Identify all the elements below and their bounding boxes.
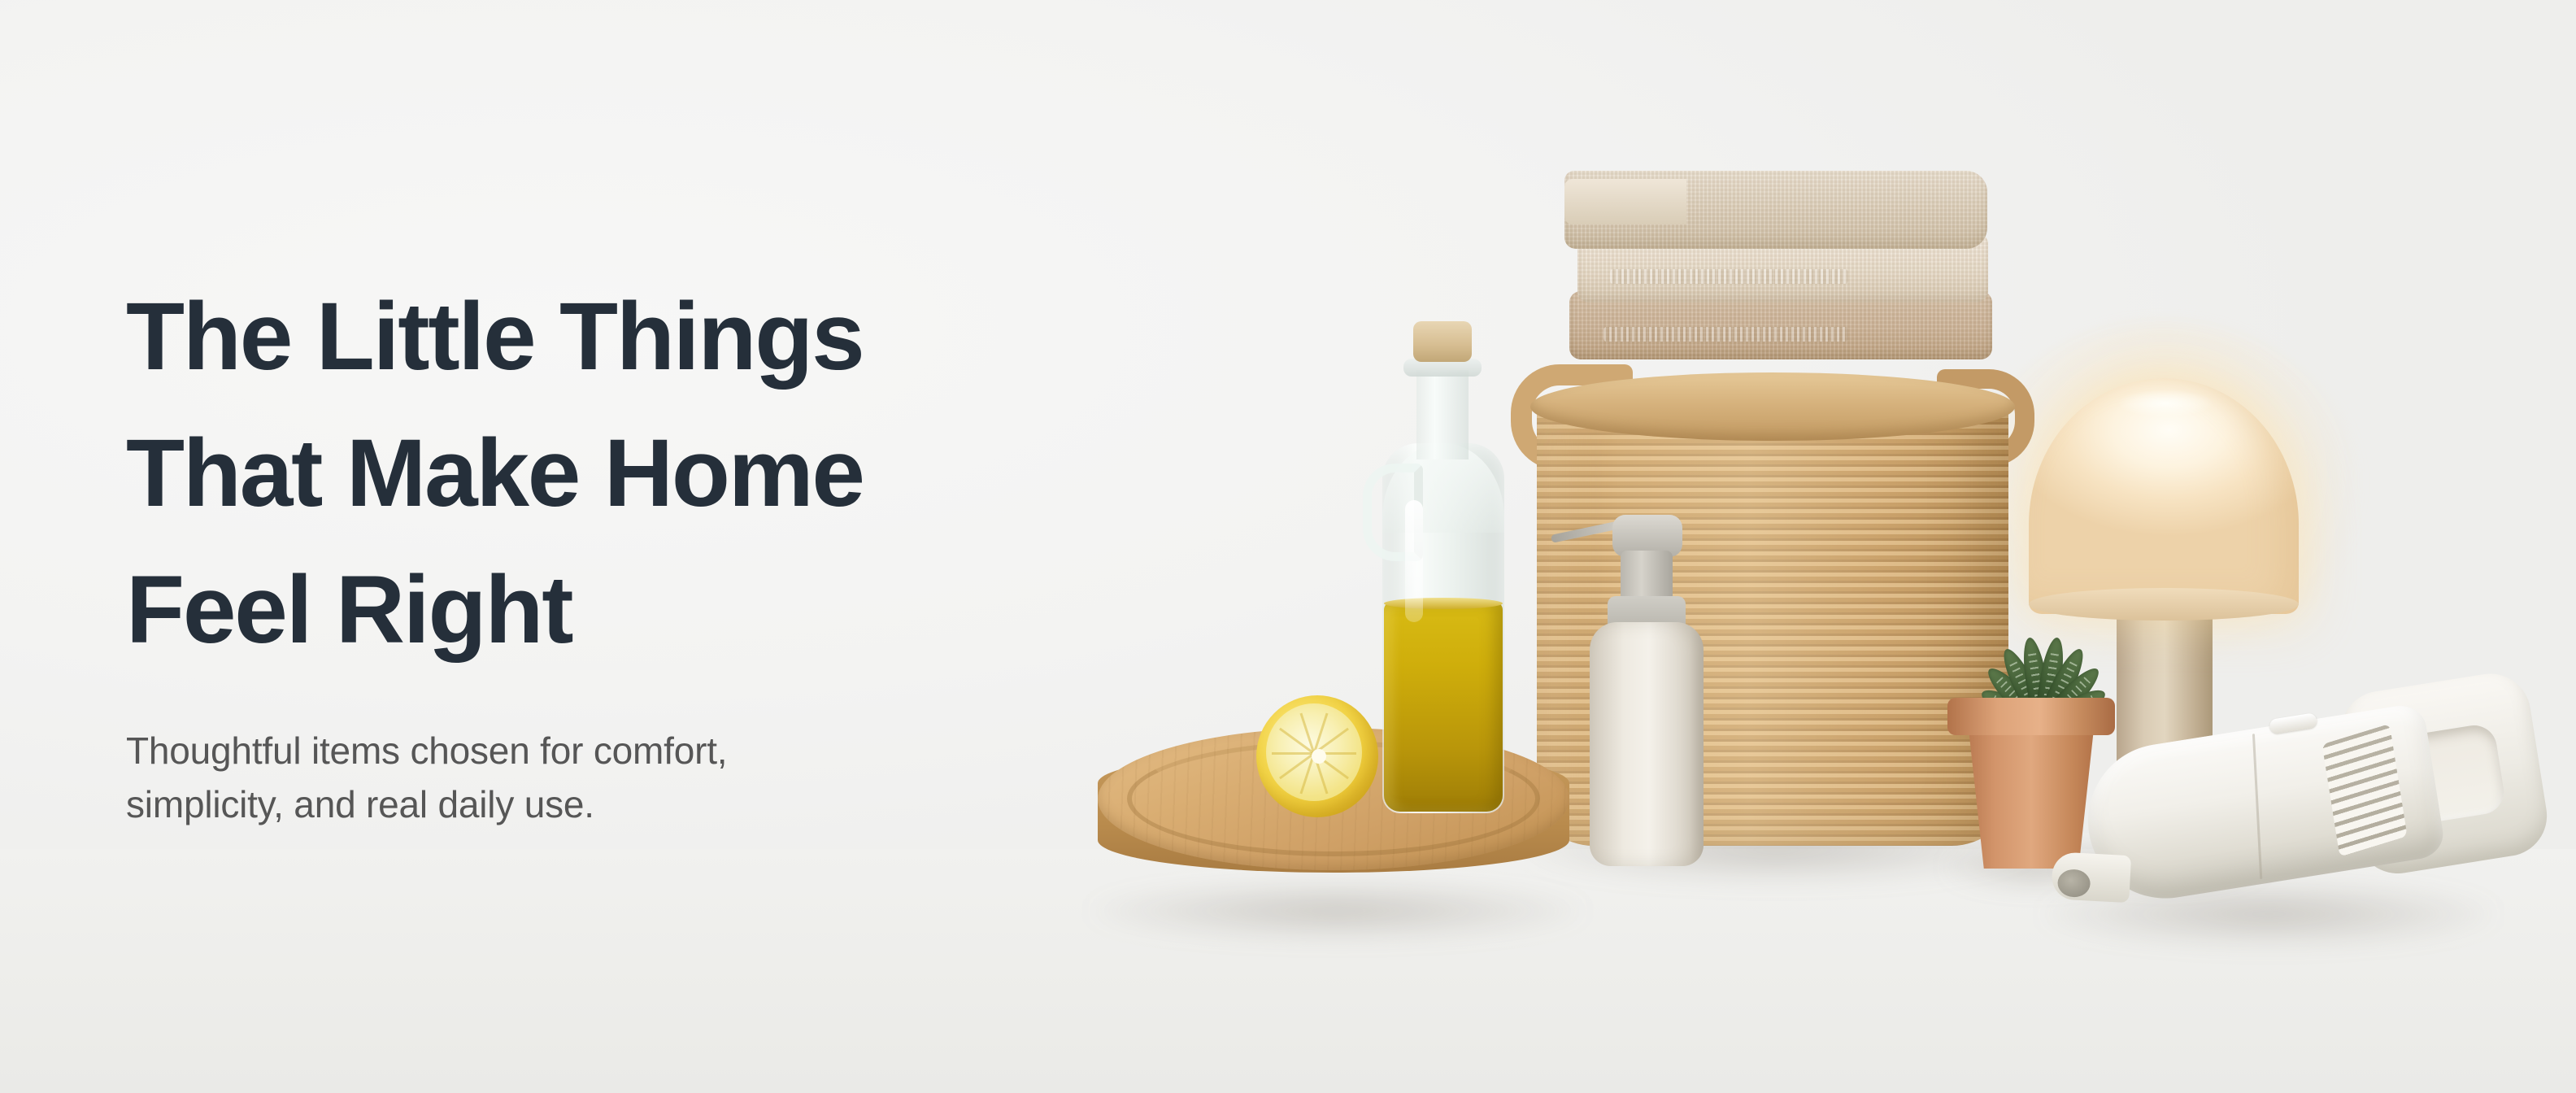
basket-rim (1530, 372, 2015, 441)
lamp-highlight (2117, 390, 2214, 417)
lemon-flesh (1266, 703, 1362, 801)
oil-bottle (1366, 321, 1521, 817)
oil-surface (1384, 598, 1503, 609)
product-scene (1081, 0, 2576, 1093)
soap-bottle (1590, 622, 1704, 866)
towel-top (1564, 171, 1987, 249)
hero-subheadline: Thoughtful items chosen for comfort, sim… (126, 724, 1069, 831)
lemon-half (1256, 695, 1378, 817)
lemon-core (1312, 749, 1326, 764)
soap-pump-stem (1621, 551, 1673, 603)
hero-banner: The Little Things That Make Home Feel Ri… (0, 0, 2576, 1093)
page-title: The Little Things That Make Home Feel Ri… (126, 268, 1199, 678)
hero-text-block: The Little Things That Make Home Feel Ri… (126, 268, 1199, 831)
oil-bottle-neck (1416, 370, 1469, 459)
oil-bottle-stopper (1413, 321, 1472, 362)
soap-dispenser (1590, 500, 1704, 866)
olive-oil (1384, 602, 1503, 812)
oil-bottle-highlight (1405, 500, 1423, 622)
